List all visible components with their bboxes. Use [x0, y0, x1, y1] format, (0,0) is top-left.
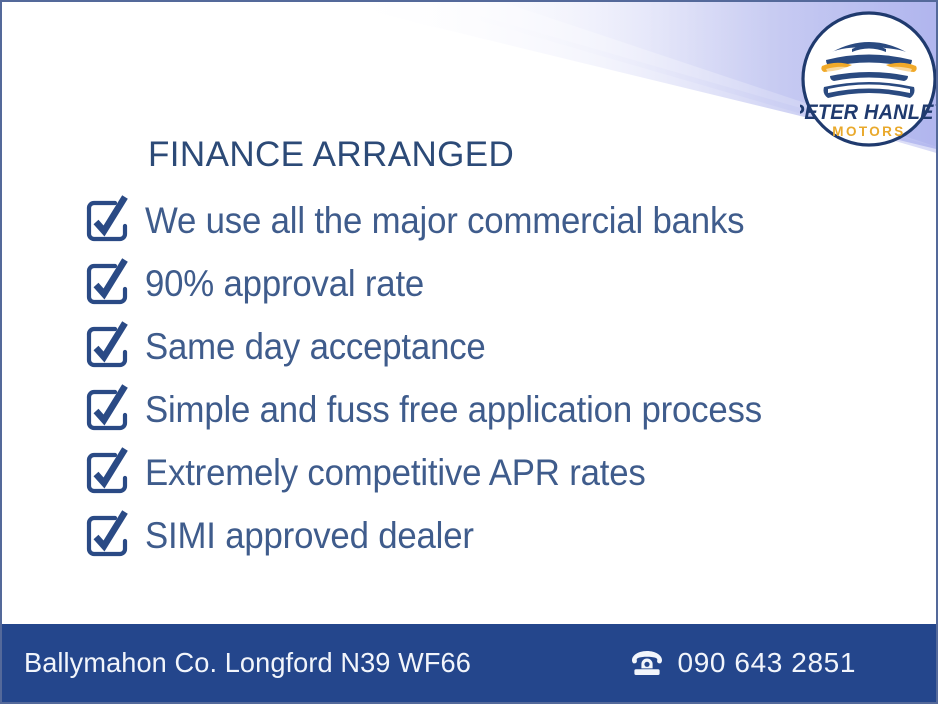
- footer-contact: 090 643 2851: [630, 647, 900, 679]
- checkbox-checked-icon: [82, 258, 132, 310]
- checkbox-checked-icon: [82, 321, 132, 373]
- list-item-label: SIMI approved dealer: [145, 517, 474, 554]
- contact-footer-bar: Ballymahon Co. Longford N39 WF66 090 643…: [0, 624, 938, 702]
- list-item: 90% approval rate: [82, 252, 882, 315]
- telephone-icon: [630, 649, 664, 677]
- advert-poster: PETER HANLEY MOTORS FINANCE ARRANGED We …: [0, 0, 938, 704]
- benefits-checklist: We use all the major commercial banks 90…: [82, 189, 882, 567]
- list-item-label: We use all the major commercial banks: [145, 202, 744, 239]
- checkbox-checked-icon: [82, 384, 132, 436]
- checkbox-checked-icon: [82, 447, 132, 499]
- list-item: We use all the major commercial banks: [82, 189, 882, 252]
- list-item-label: Extremely competitive APR rates: [145, 454, 646, 491]
- page-title: FINANCE ARRANGED: [148, 135, 514, 175]
- checkbox-checked-icon: [82, 510, 132, 562]
- list-item: Simple and fuss free application process: [82, 378, 882, 441]
- list-item: Extremely competitive APR rates: [82, 441, 882, 504]
- svg-text:MOTORS: MOTORS: [832, 124, 905, 139]
- list-item-label: Same day acceptance: [145, 328, 486, 365]
- list-item: Same day acceptance: [82, 315, 882, 378]
- footer-phone-number: 090 643 2851: [678, 647, 856, 679]
- svg-text:PETER HANLEY: PETER HANLEY: [800, 101, 938, 125]
- footer-address: Ballymahon Co. Longford N39 WF66: [24, 647, 471, 679]
- checkbox-checked-icon: [82, 195, 132, 247]
- list-item: SIMI approved dealer: [82, 504, 882, 567]
- list-item-label: 90% approval rate: [145, 265, 424, 302]
- list-item-label: Simple and fuss free application process: [145, 391, 762, 428]
- peter-hanley-motors-logo: PETER HANLEY MOTORS: [800, 8, 938, 152]
